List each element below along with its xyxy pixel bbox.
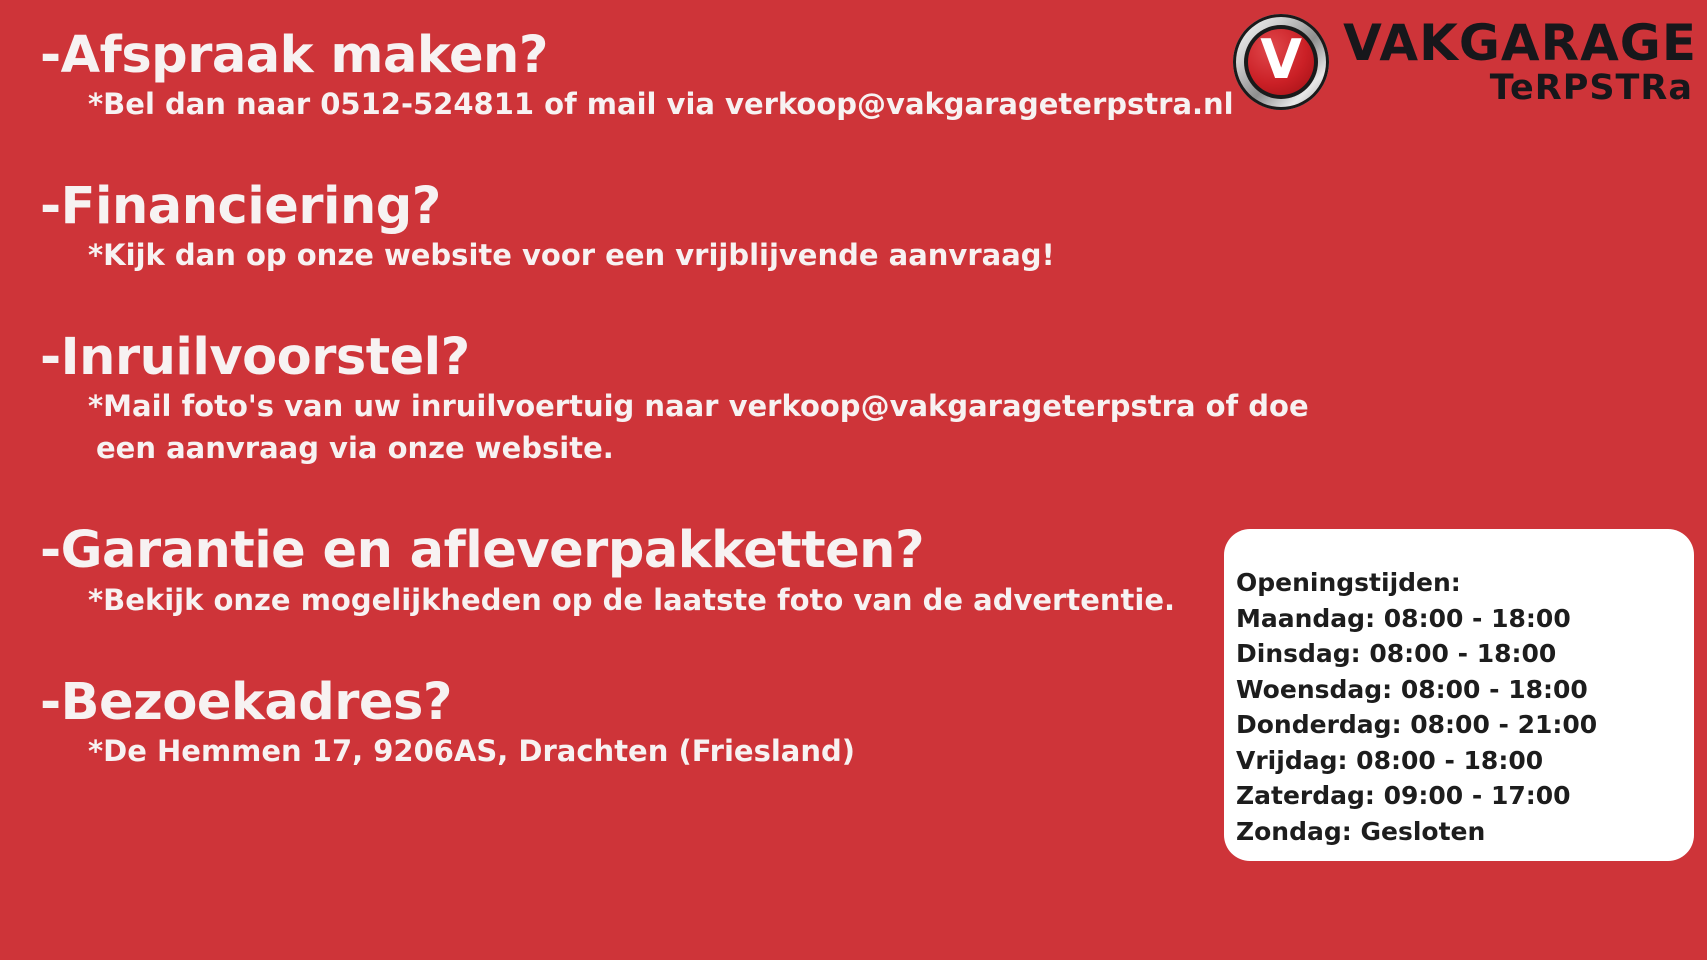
opening-hours-monday: Maandag: 08:00 - 18:00 <box>1236 601 1694 637</box>
opening-hours-sunday: Zondag: Gesloten <box>1236 814 1694 850</box>
section-line: *Mail foto's van uw inruilvoertuig naar … <box>88 385 1220 427</box>
spacer <box>40 300 1220 330</box>
section-line: *Kijk dan op onze website voor een vrijb… <box>88 234 1220 276</box>
info-content: -Afspraak maken? *Bel dan naar 0512-5248… <box>40 28 1220 796</box>
poster-background: V VAKGARAGE TeRPSTRa -Afspraak maken? *B… <box>0 0 1707 960</box>
logo-subtitle: TeRPSTRa <box>1490 71 1697 106</box>
logo-wordmark: VAKGARAGE TeRPSTRa <box>1343 18 1697 106</box>
section-line: een aanvraag via onze website. <box>96 427 1220 469</box>
opening-hours-saturday: Zaterdag: 09:00 - 17:00 <box>1236 778 1694 814</box>
spacer <box>40 149 1220 179</box>
section-heading: -Garantie en afleverpakketten? <box>40 523 1220 578</box>
emblem-letter: V <box>1233 14 1329 110</box>
section-line: *Bel dan naar 0512-524811 of mail via ve… <box>88 83 1220 125</box>
section-afspraak-maken: -Afspraak maken? *Bel dan naar 0512-5248… <box>40 28 1220 125</box>
section-heading: -Afspraak maken? <box>40 28 1220 83</box>
opening-hours-wednesday: Woensdag: 08:00 - 18:00 <box>1236 672 1694 708</box>
section-heading: -Bezoekadres? <box>40 675 1220 730</box>
vakgarage-v-emblem-icon: V <box>1233 14 1329 110</box>
vakgarage-terpstra-logo: V VAKGARAGE TeRPSTRa <box>1233 14 1697 110</box>
section-heading: -Financiering? <box>40 179 1220 234</box>
spacer <box>40 645 1220 675</box>
section-inruilvoorstel: -Inruilvoorstel? *Mail foto's van uw inr… <box>40 330 1220 469</box>
opening-hours-friday: Vrijdag: 08:00 - 18:00 <box>1236 743 1694 779</box>
section-financiering: -Financiering? *Kijk dan op onze website… <box>40 179 1220 276</box>
opening-hours-tuesday: Dinsdag: 08:00 - 18:00 <box>1236 636 1694 672</box>
section-line: *De Hemmen 17, 9206AS, Drachten (Friesla… <box>88 730 1220 772</box>
opening-hours-title: Openingstijden: <box>1236 565 1694 601</box>
section-heading: -Inruilvoorstel? <box>40 330 1220 385</box>
opening-hours-thursday: Donderdag: 08:00 - 21:00 <box>1236 707 1694 743</box>
section-garantie-afleverpakketten: -Garantie en afleverpakketten? *Bekijk o… <box>40 523 1220 620</box>
section-bezoekadres: -Bezoekadres? *De Hemmen 17, 9206AS, Dra… <box>40 675 1220 772</box>
opening-hours-card: Openingstijden: Maandag: 08:00 - 18:00 D… <box>1224 529 1694 861</box>
logo-title: VAKGARAGE <box>1343 18 1697 68</box>
spacer <box>40 493 1220 523</box>
section-line: *Bekijk onze mogelijkheden op de laatste… <box>88 579 1220 621</box>
